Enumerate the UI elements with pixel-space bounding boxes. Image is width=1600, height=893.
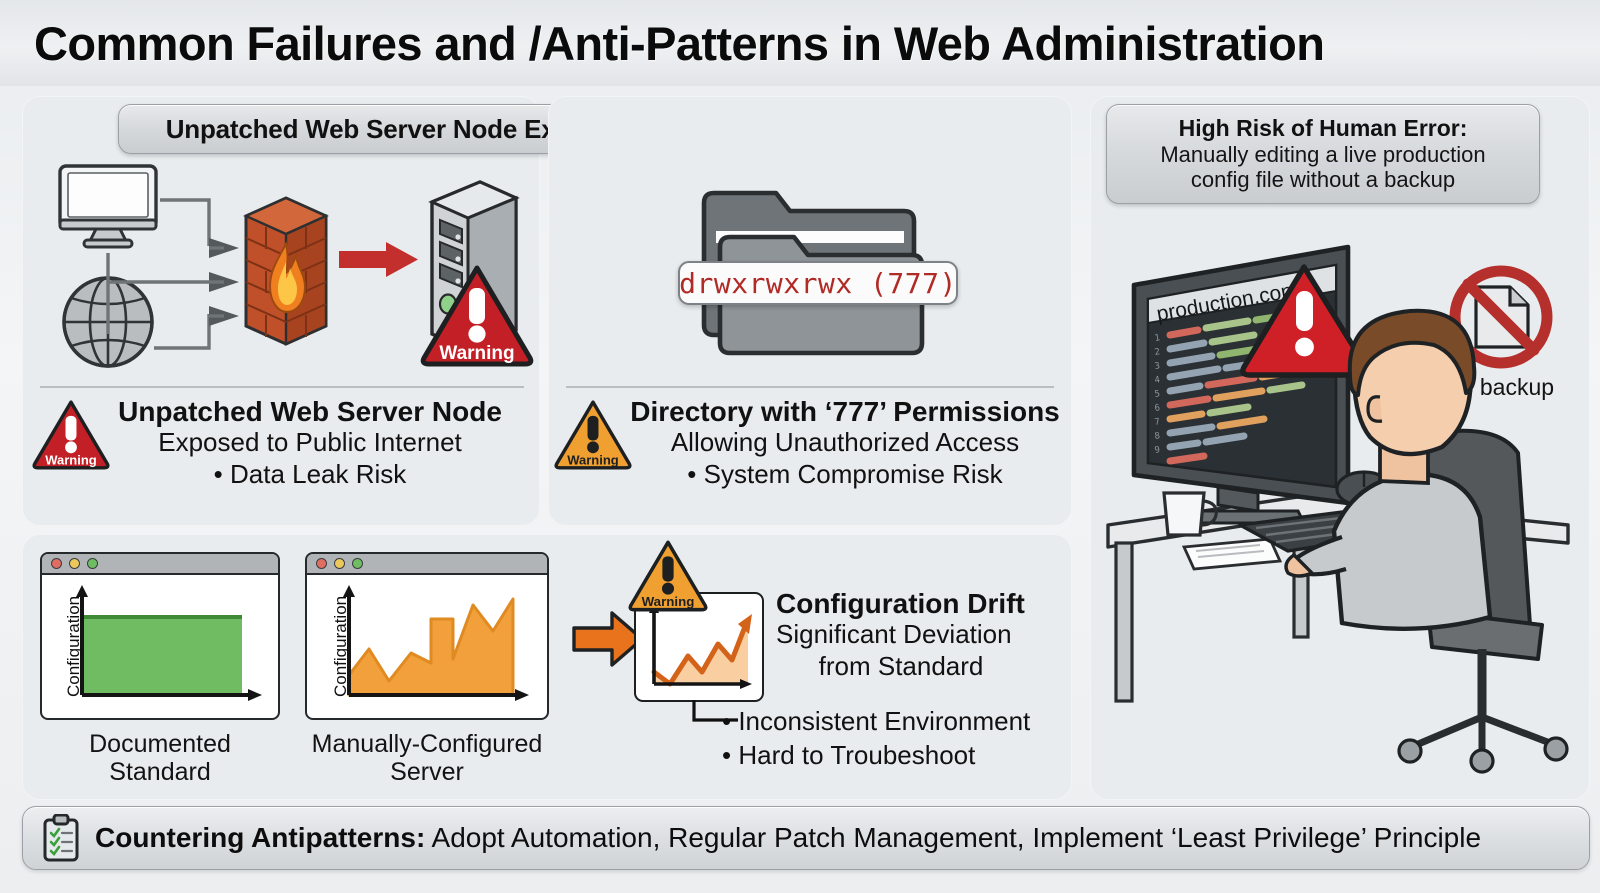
network-arrowheads: [209, 238, 239, 326]
chart-caption-documented-standard: Documented Standard: [40, 730, 280, 786]
svg-text:Warning: Warning: [439, 343, 514, 364]
paper-sheet-icon: [1184, 539, 1280, 569]
window-titlebar-left: [42, 554, 278, 575]
window-dot-yellow[interactable]: [334, 558, 345, 569]
window-titlebar-right: [307, 554, 547, 575]
page-title: Common Failures and /Anti-Patterns in We…: [34, 16, 1324, 71]
drift-sub-line2: from Standard: [776, 651, 1026, 682]
perm-caption-sub: Allowing Unauthorized Access: [630, 427, 1060, 458]
human-banner-line1: Manually editing a live production: [1160, 142, 1485, 168]
drift-sub-line1: Significant Deviation: [776, 619, 1076, 650]
net-caption-sub: Exposed to Public Internet: [110, 427, 510, 458]
banner-human-error: High Risk of Human Error: Manually editi…: [1106, 104, 1540, 204]
human-banner-strong: High Risk of Human Error:: [1179, 115, 1468, 142]
warning-triangle-icon-net-caption: Warning: [32, 398, 110, 472]
infographic-root: Common Failures and /Anti-Patterns in We…: [0, 0, 1600, 893]
drift-bullet-1: • Hard to Troubeshoot: [722, 739, 1030, 773]
net-caption-heading: Unpatched Web Server Node: [110, 396, 510, 427]
chart-window-manually-configured: Configuration: [305, 552, 549, 720]
chart-caption-left-line1: Documented: [40, 730, 280, 758]
red-arrow-to-server: [339, 242, 418, 277]
window-dot-red[interactable]: [316, 558, 327, 569]
chart-window-documented-standard: Configuration: [40, 552, 280, 720]
chart-caption-right-line1: Manually-Configured: [292, 730, 562, 758]
chart-body-left: Configuration: [42, 575, 278, 716]
footer-bar: Countering Antipatterns: Adopt Automatio…: [22, 806, 1590, 870]
perm-card-separator: [566, 386, 1054, 388]
net-caption-bullet: • Data Leak Risk: [110, 459, 510, 490]
drift-caption: Configuration Drift Significant Deviatio…: [776, 588, 1076, 682]
window-dot-green[interactable]: [352, 558, 363, 569]
chart-axis-label-left: Configuration: [64, 596, 84, 697]
warning-triangle-icon-server: Warning: [420, 262, 534, 370]
human-error-scene: production.conf 1 2 3 4 5 6 7 8 9: [1098, 225, 1586, 795]
perm-caption-heading: Directory with ‘777’ Permissions: [630, 396, 1060, 427]
chart-axis-label-right: Configuration: [331, 596, 351, 697]
svg-text:Warning: Warning: [567, 452, 619, 467]
window-dot-yellow[interactable]: [69, 558, 80, 569]
warning-triangle-icon-perm-caption: Warning: [554, 398, 632, 472]
footer-text: Countering Antipatterns: Adopt Automatio…: [95, 822, 1481, 854]
drift-bullets: • Inconsistent Environment • Hard to Tro…: [722, 705, 1030, 773]
drift-heading: Configuration Drift: [776, 588, 1076, 619]
permission-code-chip: drwxrwxrwx (777): [678, 261, 958, 305]
perm-caption: Directory with ‘777’ Permissions Allowin…: [630, 396, 1060, 490]
page-title-bar: Common Failures and /Anti-Patterns in We…: [0, 0, 1600, 86]
footer-rest: Adopt Automation, Regular Patch Manageme…: [425, 822, 1481, 853]
desktop-monitor-icon: [60, 166, 156, 247]
perm-caption-bullet: • System Compromise Risk: [630, 459, 1060, 490]
footer-strong: Countering Antipatterns:: [95, 822, 425, 853]
net-card-separator: [40, 386, 524, 388]
chart-caption-right-line2: Server: [292, 758, 562, 786]
firewall-brick-flame-icon: [246, 198, 326, 344]
clipboard-checklist-icon: [41, 814, 81, 862]
window-dot-green[interactable]: [87, 558, 98, 569]
svg-text:Warning: Warning: [642, 594, 695, 609]
svg-text:Warning: Warning: [45, 452, 97, 467]
net-caption: Unpatched Web Server Node Exposed to Pub…: [110, 396, 510, 490]
warning-triangle-icon-drift: Warning: [628, 538, 708, 614]
window-dot-red[interactable]: [51, 558, 62, 569]
chart-caption-manually-configured: Manually-Configured Server: [292, 730, 562, 786]
drift-bullet-0: • Inconsistent Environment: [722, 705, 1030, 739]
human-banner-line2: config file without a backup: [1191, 167, 1455, 193]
chart-body-right: Configuration: [307, 575, 547, 716]
chart-caption-left-line2: Standard: [40, 758, 280, 786]
